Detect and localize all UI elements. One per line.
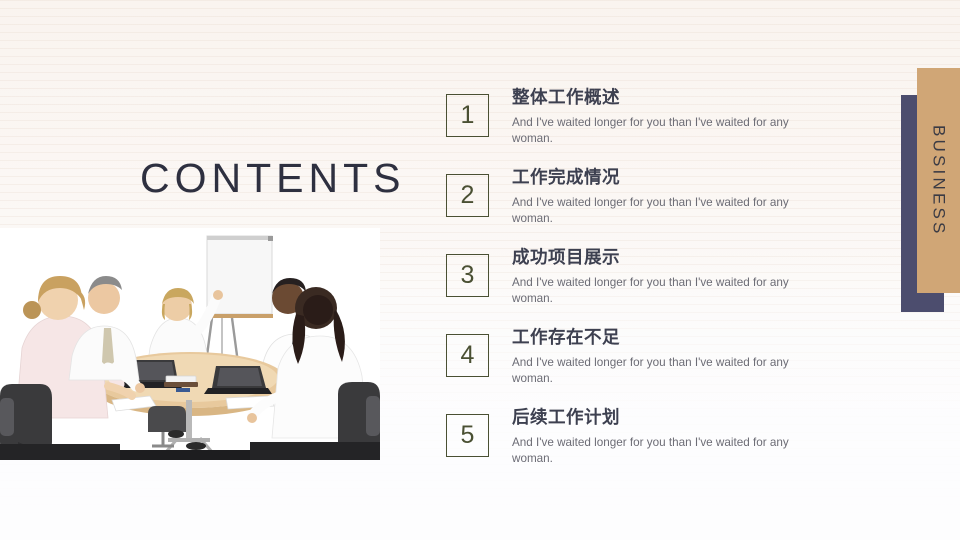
list-item[interactable]: 3 成功项目展示 And I've waited longer for you … bbox=[446, 248, 846, 328]
item-title: 后续工作计划 bbox=[512, 408, 842, 430]
item-title: 整体工作概述 bbox=[512, 88, 842, 110]
item-description: And I've waited longer for you than I've… bbox=[512, 355, 822, 387]
item-description: And I've waited longer for you than I've… bbox=[512, 195, 822, 227]
meeting-photo-illustration bbox=[0, 228, 380, 460]
item-description: And I've waited longer for you than I've… bbox=[512, 275, 822, 307]
item-body: 工作存在不足 And I've waited longer for you th… bbox=[512, 328, 842, 387]
item-body: 工作完成情况 And I've waited longer for you th… bbox=[512, 168, 842, 227]
side-tab-label: BUSINESS bbox=[917, 68, 960, 293]
item-body: 后续工作计划 And I've waited longer for you th… bbox=[512, 408, 842, 467]
list-item[interactable]: 4 工作存在不足 And I've waited longer for you … bbox=[446, 328, 846, 408]
item-body: 整体工作概述 And I've waited longer for you th… bbox=[512, 88, 842, 147]
item-number-badge: 1 bbox=[446, 94, 489, 137]
item-description: And I've waited longer for you than I've… bbox=[512, 115, 822, 147]
contents-list: 1 整体工作概述 And I've waited longer for you … bbox=[446, 88, 846, 488]
list-item[interactable]: 1 整体工作概述 And I've waited longer for you … bbox=[446, 88, 846, 168]
item-title: 工作完成情况 bbox=[512, 168, 842, 190]
list-item[interactable]: 5 后续工作计划 And I've waited longer for you … bbox=[446, 408, 846, 488]
meeting-photo bbox=[0, 228, 380, 460]
list-item[interactable]: 2 工作完成情况 And I've waited longer for you … bbox=[446, 168, 846, 248]
item-body: 成功项目展示 And I've waited longer for you th… bbox=[512, 248, 842, 307]
item-number-badge: 2 bbox=[446, 174, 489, 217]
presentation-slide: CONTENTS bbox=[0, 0, 960, 540]
item-title: 工作存在不足 bbox=[512, 328, 842, 350]
page-title: CONTENTS bbox=[140, 155, 380, 202]
item-number-badge: 4 bbox=[446, 334, 489, 377]
item-number-badge: 3 bbox=[446, 254, 489, 297]
item-description: And I've waited longer for you than I've… bbox=[512, 435, 822, 467]
item-number-badge: 5 bbox=[446, 414, 489, 457]
item-title: 成功项目展示 bbox=[512, 248, 842, 270]
